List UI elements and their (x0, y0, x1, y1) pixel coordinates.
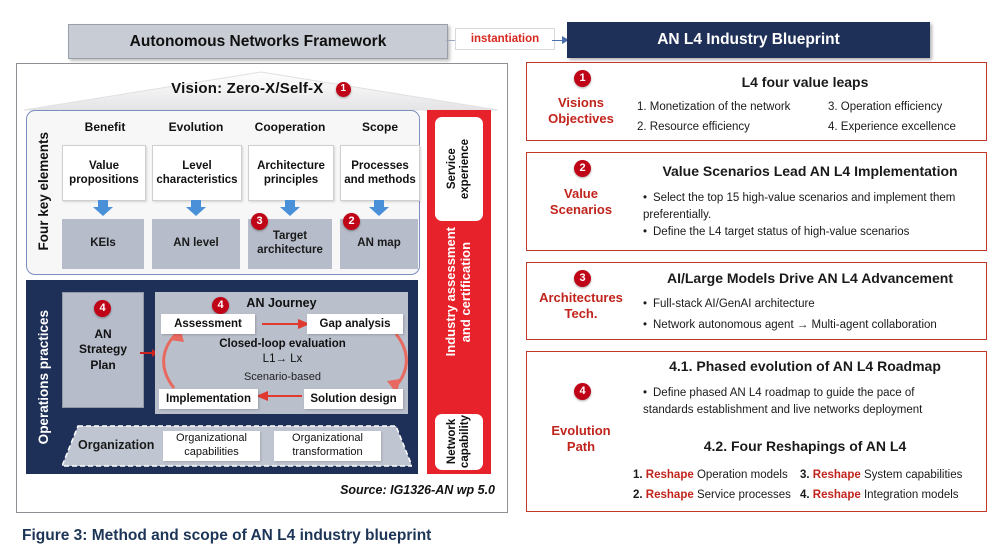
vision-statement: Vision: Zero-X/Self-X 1 (24, 80, 498, 97)
cell-level-characteristics: Levelcharacteristics (152, 145, 242, 201)
bullet-evolution-1: •Define phased AN L4 roadmap to guide th… (643, 385, 961, 418)
four-key-elements-label: Four key elements (30, 112, 56, 271)
badge-1-visions: 1 (574, 70, 591, 87)
title-phased-evolution: 4.1. Phased evolution of AN L4 Roadmap (640, 358, 970, 374)
column-head-evolution: Evolution (154, 120, 238, 134)
reshaping-3: 3. Reshape System capabilities (800, 466, 990, 484)
title-four-reshapings: 4.2. Four Reshapings of AN L4 (640, 438, 970, 454)
badge-2-an-map: 2 (343, 213, 360, 230)
reshaping-4: 4. Reshape Integration models (800, 486, 990, 504)
reshaping-1: 1. Reshape Operation models (633, 466, 823, 484)
title-ai-large-models: AI/Large Models Drive AN L4 Advancement (640, 270, 980, 286)
reshaping-2: 2. Reshape Service processes (633, 486, 823, 504)
label-value-scenarios: ValueScenarios (530, 186, 632, 219)
badge-2-value-scenarios: 2 (574, 160, 591, 177)
badge-4-strategy-plan: 4 (94, 300, 111, 317)
chip-network-capability: Networkcapability (435, 414, 483, 470)
cell-architecture-principles: Architectureprinciples (248, 145, 334, 201)
label-architectures-tech: ArchitecturesTech. (530, 290, 632, 323)
cell-value-propositions: Valuepropositions (62, 145, 146, 201)
badge-3-target-architecture: 3 (251, 213, 268, 230)
chip-service-experience: Serviceexperience (435, 117, 483, 221)
cell-processes-and-methods: Processesand methods (340, 145, 420, 201)
badge-4-evolution-path: 4 (574, 383, 591, 400)
journey-box-assessment: Assessment (161, 314, 255, 334)
bullet-architectures-2: •Network autonomous agent → Multi-agent … (643, 317, 983, 334)
operations-practices-label: Operations practices (30, 282, 56, 472)
down-arrow-icon-3 (279, 200, 301, 217)
journey-box-implementation: Implementation (159, 389, 258, 409)
value-leap-4: 4. Experience excellence (828, 118, 988, 136)
down-arrow-icon-4 (368, 200, 390, 217)
column-head-scope: Scope (342, 120, 418, 134)
blueprint-title: AN L4 Industry Blueprint (657, 31, 840, 49)
instantiation-label: instantiation (455, 28, 555, 50)
bullet-dot-icon: • (643, 296, 653, 313)
blueprint-header-bar: AN L4 Industry Blueprint (567, 22, 930, 58)
vision-label: Vision: Zero-X/Self-X (171, 80, 323, 97)
badge-3-architectures: 3 (574, 270, 591, 287)
source-note: Source: IG1326-AN wp 5.0 (250, 483, 495, 497)
framework-title: Autonomous Networks Framework (130, 33, 387, 51)
journey-box-solution-design: Solution design (304, 389, 403, 409)
organization-label: Organization (78, 438, 154, 452)
bullet-value-scenarios-2: •Define the L4 target status of high-val… (643, 224, 973, 241)
scenario-based-label: Scenario-based (180, 371, 385, 383)
title-value-scenarios: Value Scenarios Lead AN L4 Implementatio… (640, 163, 980, 179)
title-l4-four-value-leaps: L4 four value leaps (640, 74, 970, 90)
framework-header-bar: Autonomous Networks Framework (68, 24, 448, 59)
column-head-cooperation: Cooperation (245, 120, 335, 134)
down-arrow-icon-2 (185, 200, 207, 217)
instantiation-text: instantiation (471, 33, 539, 45)
bullet-dot-icon: • (643, 224, 653, 241)
journey-box-gap-analysis: Gap analysis (307, 314, 403, 334)
column-head-benefit: Benefit (66, 120, 144, 134)
bullet-dot-icon: • (643, 317, 653, 334)
organizational-capabilities-box: Organizationalcapabilities (163, 431, 260, 461)
figure-caption: Figure 3: Method and scope of AN L4 indu… (22, 527, 431, 545)
cell-an-level: AN level (152, 219, 240, 269)
value-leap-3: 3. Operation efficiency (828, 98, 988, 116)
badge-1-vision: 1 (336, 82, 351, 97)
bullet-dot-icon: • (643, 190, 653, 207)
bullet-architectures-1: •Full-stack AI/GenAI architecture (643, 296, 973, 313)
label-visions-objectives: VisionsObjectives (530, 95, 632, 128)
label-evolution-path: EvolutionPath (530, 423, 632, 456)
value-leap-2: 2. Resource efficiency (637, 118, 827, 136)
down-arrow-icon-1 (92, 200, 114, 217)
bullet-dot-icon: • (643, 385, 653, 402)
cell-keis: KEIs (62, 219, 144, 269)
closed-loop-evaluation-label: Closed-loop evaluation (180, 338, 385, 350)
organizational-transformation-box: Organizationaltransformation (274, 431, 381, 461)
value-leap-1: 1. Monetization of the network (637, 98, 827, 116)
bullet-value-scenarios-1: •Select the top 15 high-value scenarios … (643, 190, 963, 223)
l1-to-lx-label: L1→ Lx (180, 353, 385, 365)
